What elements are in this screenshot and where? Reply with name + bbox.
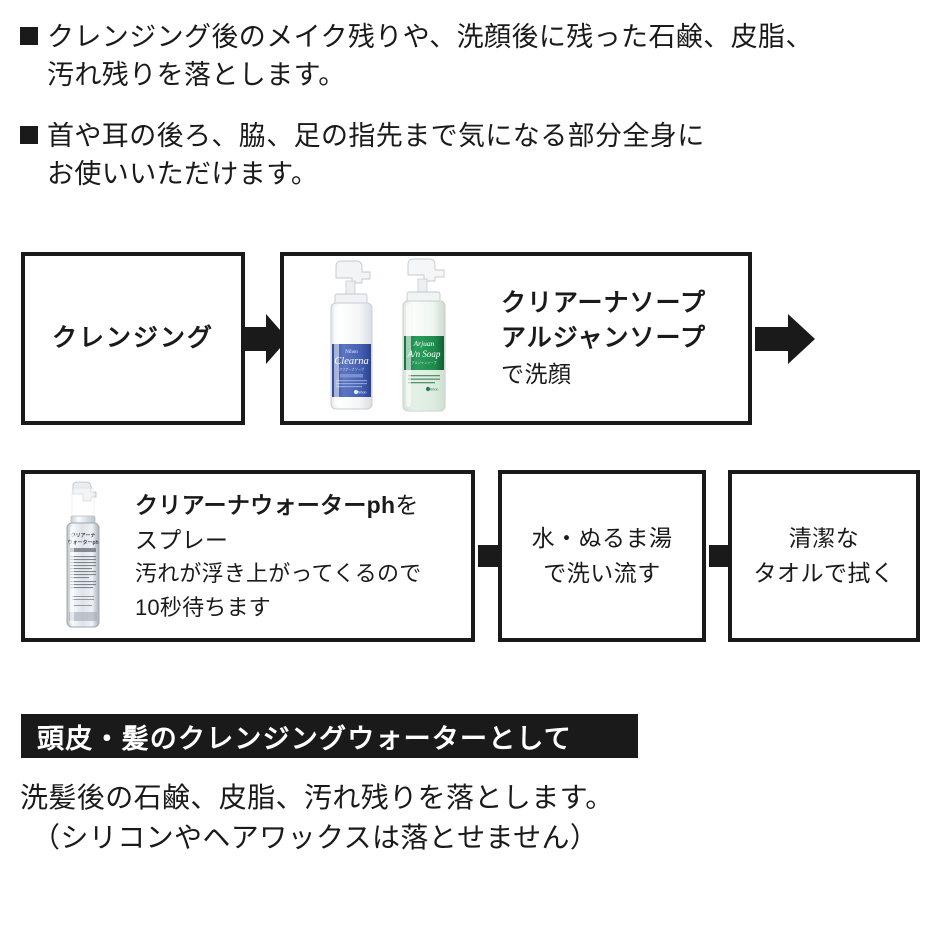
flow-step-cleansing-label: クレンジング	[52, 324, 214, 352]
spray-line4: 10秒待ちます	[135, 591, 471, 624]
arjuan-soap-bottle: Arjuan A/n Soap アルジャンソープ Nihon	[403, 259, 445, 411]
svg-text:A/n Soap: A/n Soap	[406, 349, 440, 359]
flow-step-spray-water: クリアーナ ウォーターph	[21, 470, 475, 642]
spray-line2: スプレー	[135, 523, 471, 558]
bullet-item-text: 首や耳の後ろ、脇、足の指先まで気になる部分全身に お使いいただけます。	[47, 117, 705, 194]
square-bullet-icon	[20, 27, 38, 45]
spray-line1-suffix: を	[395, 492, 418, 518]
flow-arrow-2	[755, 311, 815, 367]
spray-line1-product: クリアーナウォーターph	[135, 492, 395, 518]
closing-note: 洗髪後の石鹸、皮脂、汚れ残りを落とします。 （シリコンやヘアワックスは落とせませ…	[20, 778, 920, 859]
spray-line1: クリアーナウォーターphを	[135, 488, 471, 523]
soap-bottles-illustration: Nihon Clearna クリアーナソープ Nihon	[312, 256, 490, 421]
bullet-item: 首や耳の後ろ、脇、足の指先まで気になる部分全身に お使いいただけます。	[20, 117, 930, 194]
spray-bottle-illustration: クリアーナ ウォーターph	[53, 480, 113, 632]
scalp-hair-banner-text: 頭皮・髪のクレンジングウォーターとして	[37, 717, 572, 756]
clearna-water-spray-image: クリアーナ ウォーターph	[37, 480, 129, 632]
rinse-line2: で洗い流す	[502, 556, 702, 591]
svg-text:アルジャンソープ: アルジャンソープ	[411, 360, 437, 365]
closing-line1: 洗髪後の石鹸、皮脂、汚れ残りを落とします。	[20, 778, 920, 818]
flow-step-wash-face: Nihon Clearna クリアーナソープ Nihon	[280, 252, 752, 425]
svg-text:Nihon: Nihon	[429, 388, 438, 392]
flow-step-dry: 清潔な タオルで拭く	[728, 470, 920, 642]
flow-step-spray-water-text: クリアーナウォーターphを スプレー 汚れが浮き上がってくるので 10秒待ちます	[135, 488, 471, 624]
wash-face-line1: クリアーナソープ	[501, 286, 748, 322]
svg-text:Clearna: Clearna	[334, 356, 368, 367]
rinse-line1: 水・ぬるま湯	[502, 521, 702, 556]
flow-step-rinse: 水・ぬるま湯 で洗い流す	[498, 470, 706, 642]
closing-line2: （シリコンやヘアワックスは落とせません）	[32, 818, 920, 858]
svg-text:Nihon: Nihon	[357, 391, 366, 395]
svg-text:クリアーナソープ: クリアーナソープ	[338, 367, 364, 372]
flow-step-wash-face-text: クリアーナソープ アルジャンソープ で洗顔	[501, 286, 748, 392]
soap-bottles-image: Nihon Clearna クリアーナソープ Nihon	[308, 256, 493, 421]
intro-bullet-list: クレンジング後のメイク残りや、洗顔後に残った石鹸、皮脂、 汚れ残りを落とします。…	[20, 18, 930, 215]
bullet-item: クレンジング後のメイク残りや、洗顔後に残った石鹸、皮脂、 汚れ残りを落とします。	[20, 18, 930, 95]
flow-step-cleansing: クレンジング	[21, 252, 245, 425]
dry-line2: タオルで拭く	[732, 556, 916, 591]
svg-text:Arjuan: Arjuan	[412, 339, 434, 348]
svg-text:クリアーナ: クリアーナ	[71, 532, 96, 539]
clearna-soap-bottle: Nihon Clearna クリアーナソープ Nihon	[331, 261, 372, 409]
bullet-item-text: クレンジング後のメイク残りや、洗顔後に残った石鹸、皮脂、 汚れ残りを落とします。	[47, 18, 813, 95]
svg-text:Nihon: Nihon	[345, 350, 358, 355]
wash-face-line3: で洗顔	[501, 357, 748, 392]
dry-line1: 清潔な	[732, 521, 916, 556]
scalp-hair-banner: 頭皮・髪のクレンジングウォーターとして	[21, 714, 638, 758]
wash-face-line2: アルジャンソープ	[501, 321, 748, 357]
spray-line3: 汚れが浮き上がってくるので	[135, 557, 471, 590]
square-bullet-icon	[20, 126, 38, 144]
arrow-right-icon	[755, 311, 815, 367]
